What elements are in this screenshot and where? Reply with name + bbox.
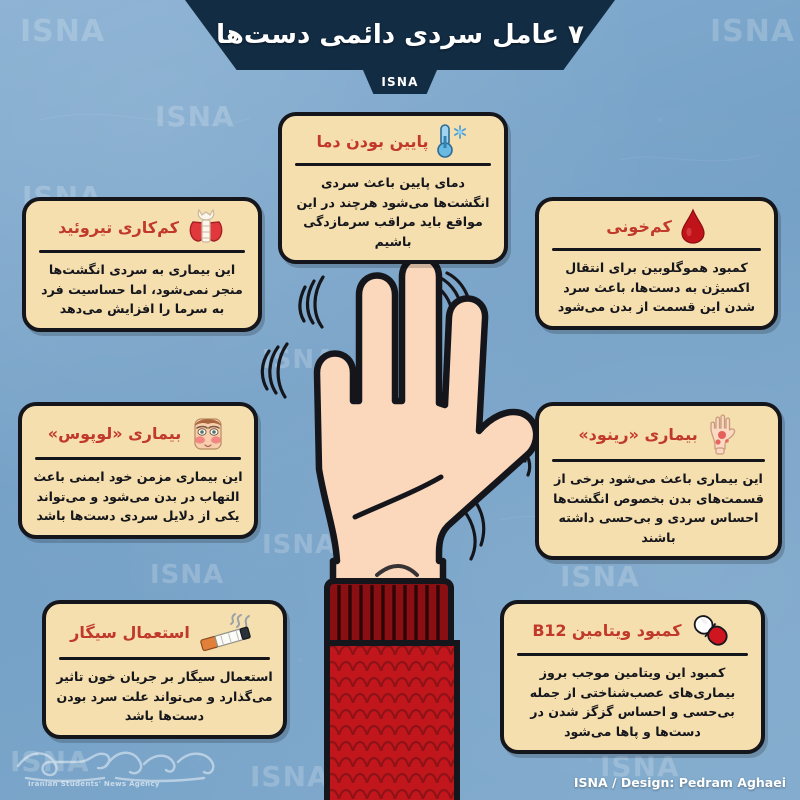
- card-divider: [517, 653, 748, 656]
- card-title: کمبود ویتامین B12: [532, 621, 681, 640]
- thermometer-snowflake-icon: [436, 123, 470, 159]
- card-body: دمای پایین باعث سردی انگشت‌ها می‌شود هرچ…: [292, 173, 494, 251]
- watermark-isna: ISNA: [560, 560, 640, 593]
- motion-lines-left: [262, 344, 287, 397]
- card-body: کمبود این ویتامین موجب بروز بیماری‌های ع…: [514, 663, 751, 741]
- card-header: بیماری «رینود»: [549, 413, 768, 455]
- card-divider: [295, 163, 491, 166]
- agency-logo-caption: Iranian Students' News Agency: [28, 780, 160, 788]
- card-header: استعمال سیگار: [56, 611, 273, 653]
- title-banner: ۷ عامل سردی دائمی دست‌ها ISNA: [0, 0, 800, 96]
- card-header: کم‌کاری تیروئید: [36, 208, 248, 246]
- card-header: پایین بودن دما: [292, 123, 494, 159]
- card-lupus[interactable]: بیماری «لوپوس» این بیماری مزمن خود ایمنی…: [18, 402, 258, 539]
- hand-red-spots-icon: [705, 413, 739, 455]
- card-title: بیماری «رینود»: [578, 425, 697, 444]
- card-temperature[interactable]: پایین بودن دما دمای پایین باعث سردی انگش…: [278, 112, 508, 264]
- card-title: کم‌خونی: [606, 217, 672, 236]
- blood-drop-icon: [679, 208, 707, 244]
- card-body: این بیماری باعث می‌شود برخی از قسمت‌های …: [549, 469, 768, 547]
- sleeve-cuff: [327, 581, 451, 647]
- card-body: این بیماری به سردی انگشت‌ها منجر نمی‌شود…: [36, 260, 248, 319]
- hand-shape: [317, 258, 536, 584]
- banner-tab-shape: [363, 70, 437, 94]
- banner-shape: [185, 0, 615, 70]
- thyroid-gland-icon: [186, 208, 226, 246]
- watermark-isna: ISNA: [710, 14, 795, 49]
- card-smoking[interactable]: استعمال سیگار استعمال سیگار بر جریان خون…: [42, 600, 287, 739]
- face-butterfly-rash-icon: [188, 413, 228, 453]
- card-body: این بیماری مزمن خود ایمنی باعث التهاب در…: [32, 467, 244, 526]
- card-header: کم‌خونی: [549, 208, 764, 244]
- card-anemia[interactable]: کم‌خونی کمبود هموگلوبین برای انتقال اکسی…: [535, 197, 778, 330]
- card-raynaud[interactable]: بیماری «رینود» این بیماری باعث می‌شود بر…: [535, 402, 782, 560]
- card-body: کمبود هموگلوبین برای انتقال اکسیژن به دس…: [549, 258, 764, 317]
- infographic-poster: ISNA ISNA ISNA ISNA ISNA ISNA ISNA ISNA …: [0, 0, 800, 800]
- card-divider: [552, 459, 765, 462]
- card-title: بیماری «لوپوس»: [48, 424, 182, 443]
- cigarette-smoke-icon: [197, 611, 259, 653]
- brand-label: ISNA: [363, 70, 437, 94]
- motion-lines-index: [300, 277, 323, 327]
- card-b12[interactable]: کمبود ویتامین B12 کمبود این ویتامین موجب…: [500, 600, 765, 754]
- card-thyroid[interactable]: کم‌کاری تیروئید این بیماری به سردی انگشت…: [22, 197, 262, 332]
- card-body: استعمال سیگار بر جریان خون تاثیر می‌گذار…: [56, 667, 273, 726]
- footer-credit: ISNA / Design: Pedram Aghaei: [574, 775, 786, 790]
- capsule-pill-icon: [689, 611, 733, 649]
- card-title: کم‌کاری تیروئید: [58, 218, 179, 237]
- card-title: پایین بودن دما: [316, 132, 428, 151]
- card-header: کمبود ویتامین B12: [514, 611, 751, 649]
- card-divider: [39, 250, 245, 253]
- card-divider: [552, 248, 761, 251]
- card-header: بیماری «لوپوس»: [32, 413, 244, 453]
- watermark-isna: ISNA: [155, 100, 235, 133]
- page-title: ۷ عامل سردی دائمی دست‌ها: [185, 0, 615, 70]
- card-title: استعمال سیگار: [70, 623, 190, 642]
- card-divider: [35, 457, 241, 460]
- watermark-isna: ISNA: [20, 14, 105, 49]
- sleeve-body: [327, 643, 457, 800]
- card-divider: [59, 657, 270, 660]
- watermark-isna: ISNA: [150, 560, 224, 590]
